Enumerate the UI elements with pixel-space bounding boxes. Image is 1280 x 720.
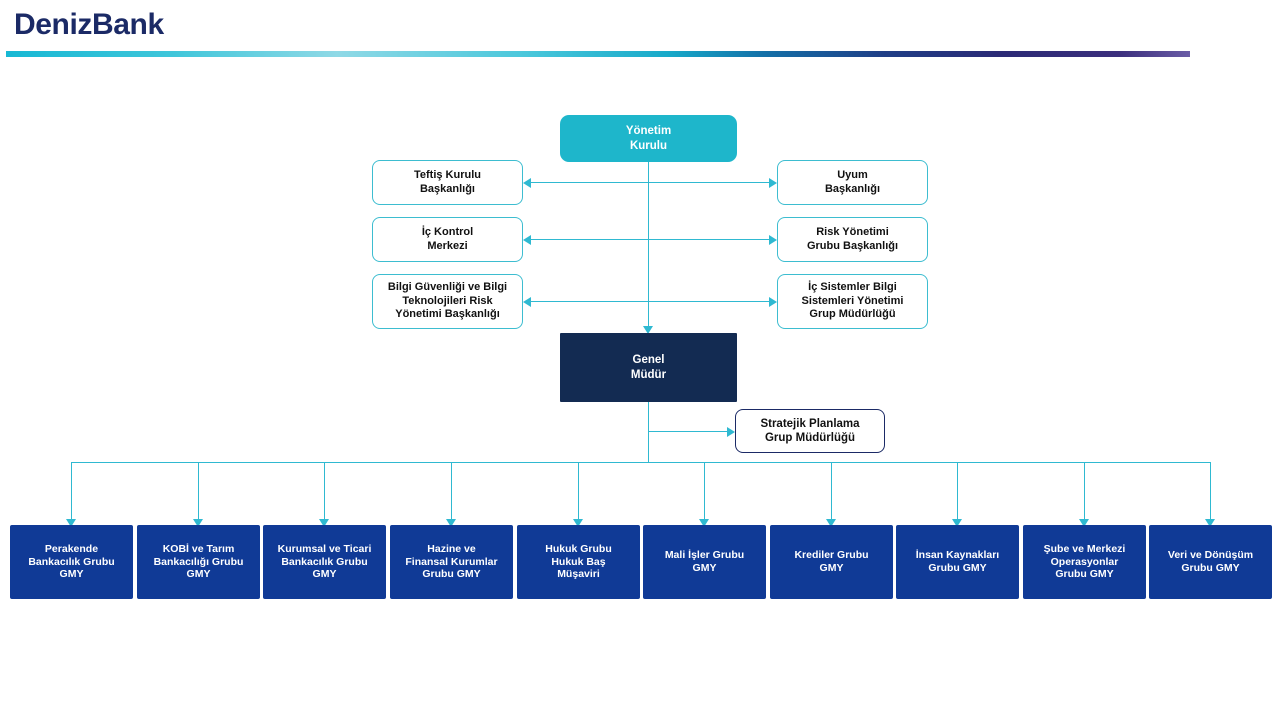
- arrow-row1-right: [769, 178, 777, 188]
- org-chart-canvas: Yönetim Kurulu Teftiş Kurulu Başkanlığı …: [0, 0, 1280, 720]
- node-bilgi-guvenligi-bt-risk-yonetimi-baskanligi[interactable]: Bilgi Güvenliği ve Bilgi Teknolojileri R…: [372, 274, 523, 329]
- arrow-row2-right: [769, 235, 777, 245]
- arrow-row3-right: [769, 297, 777, 307]
- connector-division-drop-5: [578, 462, 579, 523]
- arrow-row3-left: [523, 297, 531, 307]
- node-teftis-kurulu-baskanligi[interactable]: Teftiş Kurulu Başkanlığı: [372, 160, 523, 205]
- connector-division-drop-4: [451, 462, 452, 523]
- connector-row1-right: [648, 182, 770, 183]
- org-chart-page: DenizBank: [0, 0, 1280, 720]
- node-uyum-baskanligi[interactable]: Uyum Başkanlığı: [777, 160, 928, 205]
- connector-division-drop-8: [957, 462, 958, 523]
- connector-row2-right: [648, 239, 770, 240]
- node-ic-sistemler-bilgi-sistemleri-yonetimi-grup-mudurlugu[interactable]: İç Sistemler Bilgi Sistemleri Yönetimi G…: [777, 274, 928, 329]
- connector-row2-left: [530, 239, 649, 240]
- connector-gm-down: [648, 402, 649, 463]
- arrow-row2-left: [523, 235, 531, 245]
- connector-division-drop-1: [71, 462, 72, 523]
- node-division-hukuk-grubu[interactable]: Hukuk Grubu Hukuk Baş Müşaviri: [517, 525, 640, 599]
- arrow-row1-left: [523, 178, 531, 188]
- node-division-insan-kaynaklari-grubu[interactable]: İnsan Kaynakları Grubu GMY: [896, 525, 1019, 599]
- node-division-perakende-bankacilik[interactable]: Perakende Bankacılık Grubu GMY: [10, 525, 133, 599]
- connector-division-drop-7: [831, 462, 832, 523]
- connector-division-drop-9: [1084, 462, 1085, 523]
- node-division-hazine-ve-finansal-kurumlar[interactable]: Hazine ve Finansal Kurumlar Grubu GMY: [390, 525, 513, 599]
- node-division-mali-isler-grubu[interactable]: Mali İşler Grubu GMY: [643, 525, 766, 599]
- arrow-gm-to-strategic: [727, 427, 735, 437]
- connector-division-drop-3: [324, 462, 325, 523]
- connector-gm-to-strategic: [648, 431, 728, 432]
- node-ic-kontrol-merkezi[interactable]: İç Kontrol Merkezi: [372, 217, 523, 262]
- connector-division-drop-6: [704, 462, 705, 523]
- node-division-kobi-ve-tarim-bankaciligi[interactable]: KOBİ ve Tarım Bankacılığı Grubu GMY: [137, 525, 260, 599]
- node-division-kurumsal-ve-ticari-bankacilik[interactable]: Kurumsal ve Ticari Bankacılık Grubu GMY: [263, 525, 386, 599]
- connector-row3-left: [530, 301, 649, 302]
- connector-row3-right: [648, 301, 770, 302]
- node-risk-yonetimi-grubu-baskanligi[interactable]: Risk Yönetimi Grubu Başkanlığı: [777, 217, 928, 262]
- connector-board-to-gm: [648, 162, 649, 330]
- node-division-sube-ve-merkezi-operasyonlar[interactable]: Şube ve Merkezi Operasyonlar Grubu GMY: [1023, 525, 1146, 599]
- node-yonetim-kurulu[interactable]: Yönetim Kurulu: [560, 115, 737, 162]
- connector-division-drop-10: [1210, 462, 1211, 523]
- connector-row1-left: [530, 182, 649, 183]
- node-genel-mudur[interactable]: Genel Müdür: [560, 333, 737, 402]
- connector-division-drop-2: [198, 462, 199, 523]
- node-division-veri-ve-donusum[interactable]: Veri ve Dönüşüm Grubu GMY: [1149, 525, 1272, 599]
- connector-division-bus: [71, 462, 1210, 463]
- node-division-krediler-grubu[interactable]: Krediler Grubu GMY: [770, 525, 893, 599]
- node-stratejik-planlama-grup-mudurlugu[interactable]: Stratejik Planlama Grup Müdürlüğü: [735, 409, 885, 453]
